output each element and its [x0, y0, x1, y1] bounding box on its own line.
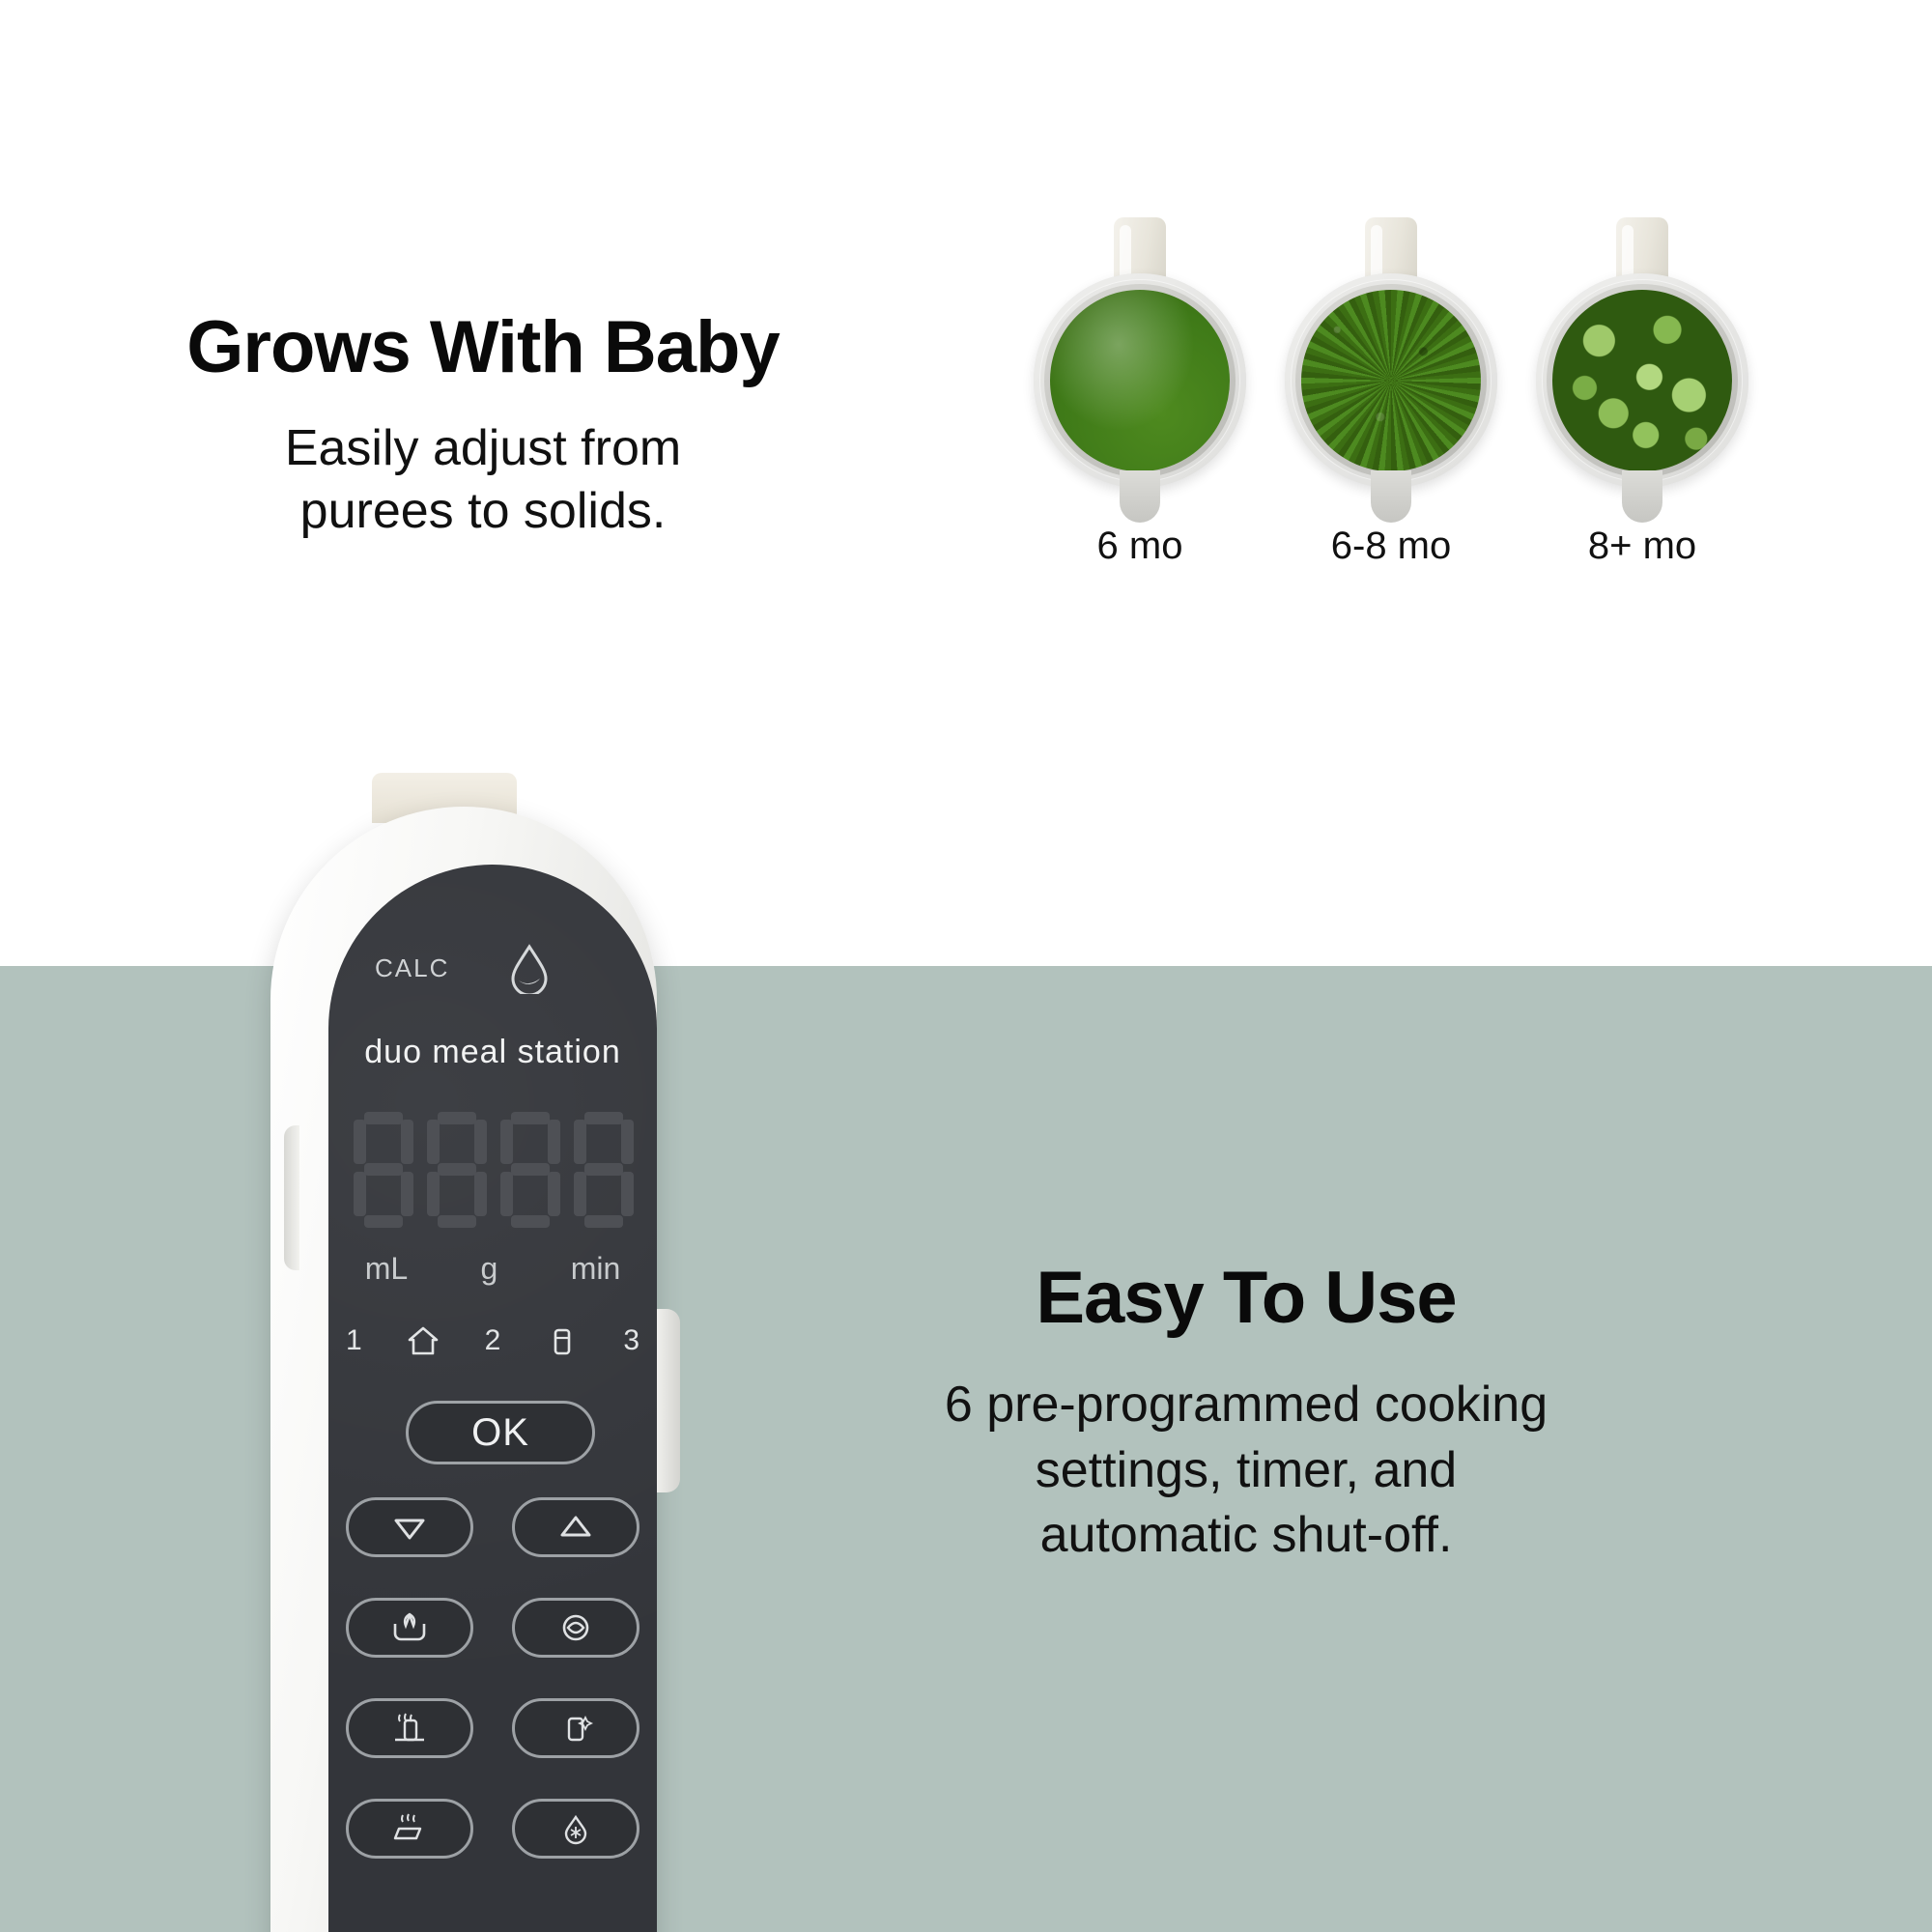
- bottle-warm-icon: [387, 1709, 432, 1747]
- jar-spout: [1371, 470, 1411, 523]
- jar-bowl: [1285, 273, 1497, 488]
- unit-g: g: [481, 1251, 498, 1287]
- button-row-cook-blend: [346, 1598, 639, 1658]
- jar-label-6-mo: 6 mo: [1034, 525, 1246, 568]
- ok-button[interactable]: OK: [406, 1401, 595, 1464]
- chevron-down-icon: [387, 1508, 432, 1547]
- grows-with-baby-title: Grows With Baby: [116, 309, 850, 386]
- reheat-button[interactable]: [346, 1799, 473, 1859]
- device-housing: CALC duo meal station: [270, 807, 657, 1932]
- device-left-nub: [284, 1125, 299, 1270]
- button-row-warm-sterilize: [346, 1698, 639, 1758]
- easy-subtitle-line-2: settings, timer, and: [734, 1438, 1758, 1504]
- defrost-drop-icon: [554, 1809, 598, 1848]
- steam-basket-icon: [387, 1608, 432, 1647]
- jar-label-6-8-mo: 6-8 mo: [1285, 525, 1497, 568]
- display-digit: [500, 1112, 560, 1228]
- food-chunky-solids: [1552, 290, 1732, 471]
- jar-comparison-group: 6 mo 6-8 mo 8+ mo: [1024, 217, 1758, 623]
- button-row-arrows: [346, 1497, 639, 1557]
- house-icon: [406, 1323, 440, 1358]
- device-control-panel: CALC duo meal station: [328, 865, 657, 1932]
- bottle-warm-button[interactable]: [346, 1698, 473, 1758]
- easy-subtitle-line-3: automatic shut-off.: [734, 1503, 1758, 1569]
- unit-ml: mL: [365, 1251, 408, 1287]
- blend-swirl-icon: [554, 1608, 598, 1647]
- sterilize-button[interactable]: [512, 1698, 639, 1758]
- jar-spout: [1120, 470, 1160, 523]
- jar-6-8-months: 6-8 mo: [1285, 217, 1497, 604]
- duo-meal-station-device: CALC duo meal station: [246, 773, 691, 1932]
- promo-graphic: Grows With Baby Easily adjust from puree…: [0, 0, 1932, 1932]
- water-drop-icon: [507, 944, 552, 994]
- brand-name: duo meal station: [328, 1034, 657, 1071]
- chevron-up-icon: [554, 1508, 598, 1547]
- jar-spout: [1622, 470, 1662, 523]
- calc-label: CALC: [375, 953, 449, 983]
- easy-to-use-title: Easy To Use: [734, 1256, 1758, 1340]
- unit-min: min: [571, 1251, 621, 1287]
- mode-indicator-row: 1 2 3: [346, 1323, 639, 1358]
- button-grid: [346, 1497, 639, 1899]
- digital-display: [354, 1104, 634, 1235]
- device-right-nub: [657, 1309, 680, 1492]
- display-digit: [354, 1112, 413, 1228]
- grows-subtitle-line-2: purees to solids.: [116, 480, 850, 543]
- easy-to-use-text-block: Easy To Use 6 pre-programmed cooking set…: [734, 1256, 1758, 1569]
- jar-label-8-plus-mo: 8+ mo: [1536, 525, 1748, 568]
- steam-cook-button[interactable]: [346, 1598, 473, 1658]
- mode-number-1: 1: [346, 1324, 362, 1357]
- grows-with-baby-text-block: Grows With Baby Easily adjust from puree…: [116, 309, 850, 543]
- easy-to-use-subtitle: 6 pre-programmed cooking settings, timer…: [734, 1373, 1758, 1569]
- sterilize-sparkle-icon: [554, 1709, 598, 1747]
- jar-6-months: 6 mo: [1034, 217, 1246, 604]
- jar-8-plus-months: 8+ mo: [1536, 217, 1748, 604]
- unit-labels-row: mL g min: [328, 1251, 657, 1287]
- display-digit: [427, 1112, 487, 1228]
- grows-with-baby-subtitle: Easily adjust from purees to solids.: [116, 417, 850, 543]
- mode-number-3: 3: [623, 1324, 639, 1357]
- grows-subtitle-line-1: Easily adjust from: [116, 417, 850, 480]
- reheat-tray-icon: [387, 1809, 432, 1848]
- easy-subtitle-line-1: 6 pre-programmed cooking: [734, 1373, 1758, 1438]
- increase-button[interactable]: [512, 1497, 639, 1557]
- bottle-icon: [545, 1323, 580, 1358]
- food-coarse-puree: [1301, 290, 1481, 471]
- display-digit: [574, 1112, 634, 1228]
- mode-number-2: 2: [485, 1324, 501, 1357]
- food-smooth-puree: [1050, 290, 1230, 471]
- button-row-reheat-defrost: [346, 1799, 639, 1859]
- jar-bowl: [1536, 273, 1748, 488]
- jar-bowl: [1034, 273, 1246, 488]
- blend-button[interactable]: [512, 1598, 639, 1658]
- defrost-button[interactable]: [512, 1799, 639, 1859]
- decrease-button[interactable]: [346, 1497, 473, 1557]
